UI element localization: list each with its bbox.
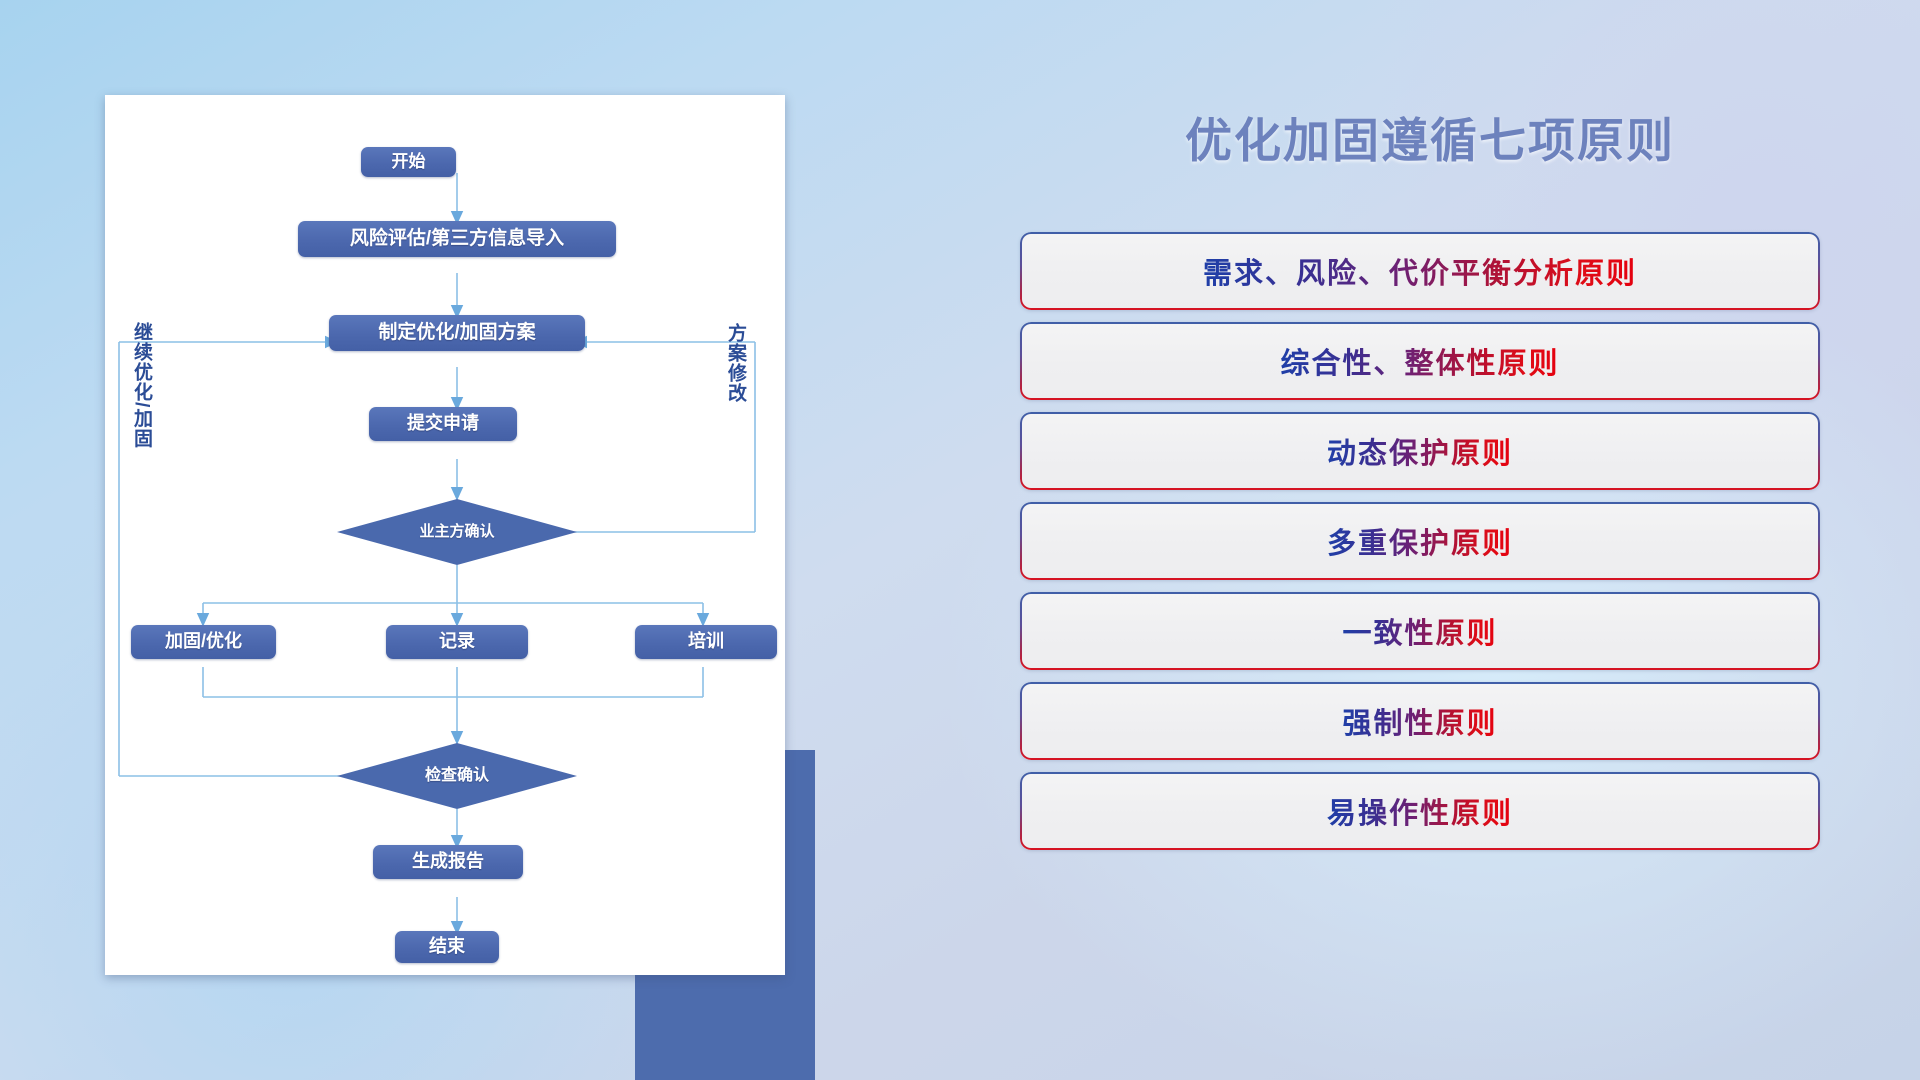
flow-node-generate-report[interactable]: 生成报告 [373, 845, 523, 879]
flow-node-owner-confirm[interactable]: 业主方确认 [337, 499, 577, 565]
flow-node-risk-assessment[interactable]: 风险评估/第三方信息导入 [298, 221, 616, 257]
flow-node-record-label: 记录 [439, 632, 475, 652]
flow-node-training-label: 培训 [688, 632, 724, 652]
flow-node-reinforce-optimize-label: 加固/优化 [165, 632, 242, 652]
page-title: 优化加固遵循七项原则 [1020, 102, 1840, 171]
principle-card-7-label: 易操作性原则 [1327, 790, 1513, 832]
flow-node-owner-confirm-label: 业主方确认 [419, 524, 494, 541]
principle-card-5[interactable]: 一致性原则 [1020, 592, 1820, 670]
flow-node-reinforce-optimize[interactable]: 加固/优化 [131, 625, 276, 659]
principle-card-6[interactable]: 强制性原则 [1020, 682, 1820, 760]
flow-node-end[interactable]: 结束 [395, 931, 499, 963]
flow-node-inspection-confirm-label: 检查确认 [425, 767, 489, 785]
flow-node-record[interactable]: 记录 [386, 625, 528, 659]
principle-card-2-label: 综合性、整体性原则 [1280, 340, 1559, 382]
flow-node-submit-application-label: 提交申请 [407, 414, 479, 434]
flow-label-continue-optimize: 继续优化/加固 [131, 322, 151, 448]
principle-card-3-label: 动态保护原则 [1327, 430, 1513, 472]
flow-label-plan-revision: 方案修改 [725, 323, 745, 403]
principle-card-7[interactable]: 易操作性原则 [1020, 772, 1820, 850]
flow-node-end-label: 结束 [429, 937, 465, 957]
flow-node-start-label: 开始 [392, 153, 426, 172]
flow-node-submit-application[interactable]: 提交申请 [369, 407, 517, 441]
flow-node-start[interactable]: 开始 [361, 147, 456, 177]
principles-panel: 优化加固遵循七项原则 需求、风险、代价平衡分析原则 综合性、整体性原则 动态保护… [1020, 80, 1840, 1010]
principle-card-2[interactable]: 综合性、整体性原则 [1020, 322, 1820, 400]
principle-card-3[interactable]: 动态保护原则 [1020, 412, 1820, 490]
principle-card-1-label: 需求、风险、代价平衡分析原则 [1203, 250, 1637, 292]
flow-node-make-plan[interactable]: 制定优化/加固方案 [329, 315, 585, 351]
principle-card-6-label: 强制性原则 [1342, 700, 1497, 742]
principle-card-4-label: 多重保护原则 [1327, 520, 1513, 562]
flow-node-inspection-confirm[interactable]: 检查确认 [337, 743, 577, 809]
flow-node-make-plan-label: 制定优化/加固方案 [378, 323, 535, 344]
flow-node-risk-assessment-label: 风险评估/第三方信息导入 [350, 229, 564, 250]
flow-node-training[interactable]: 培训 [635, 625, 777, 659]
principle-card-1[interactable]: 需求、风险、代价平衡分析原则 [1020, 232, 1820, 310]
principle-card-5-label: 一致性原则 [1342, 610, 1497, 652]
flow-node-generate-report-label: 生成报告 [412, 852, 484, 872]
flowchart-panel: 继续优化/加固 方案修改 开始 风险评估/第三方信息导入 制定优化/加固方案 提… [105, 95, 795, 985]
principle-card-4[interactable]: 多重保护原则 [1020, 502, 1820, 580]
principles-list: 需求、风险、代价平衡分析原则 综合性、整体性原则 动态保护原则 多重保护原则 一… [1020, 232, 1820, 862]
flowchart-card: 继续优化/加固 方案修改 开始 风险评估/第三方信息导入 制定优化/加固方案 提… [105, 95, 785, 975]
